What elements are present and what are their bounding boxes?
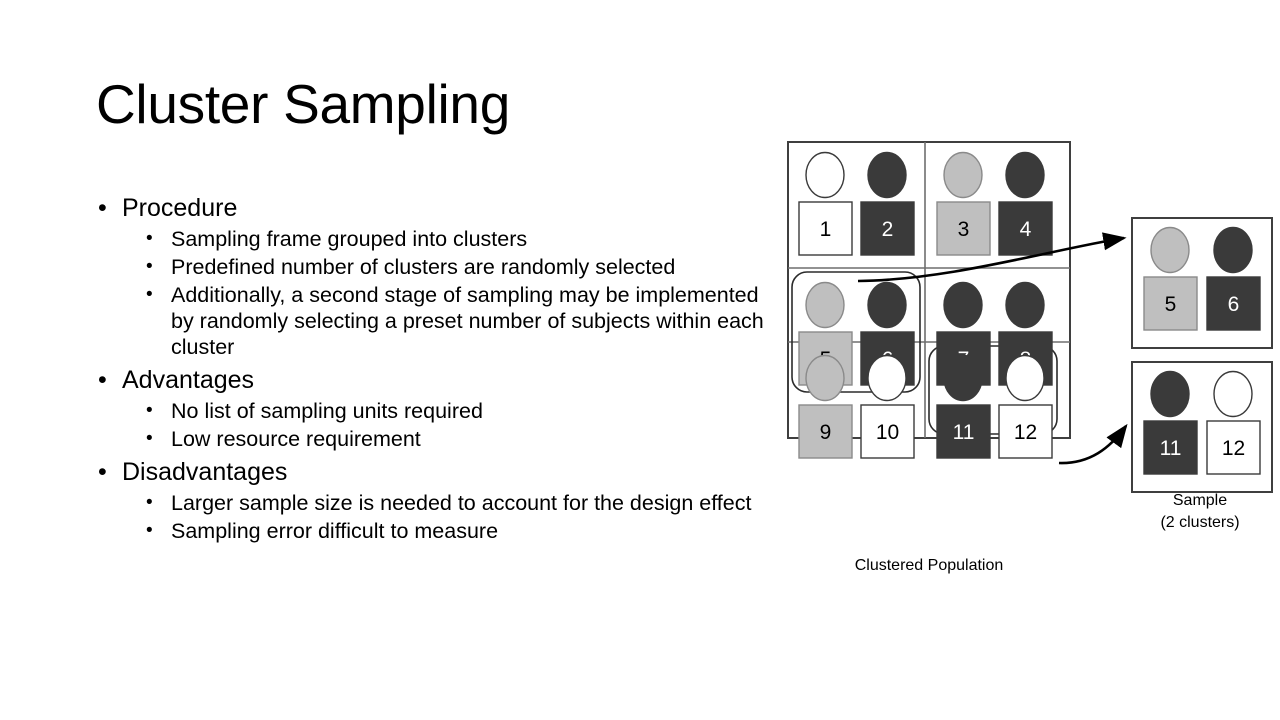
bullet-item-label: Sampling error difficult to measure: [171, 518, 764, 544]
bullet-dot-icon: •: [146, 426, 153, 452]
bullet-item-label: Low resource requirement: [171, 426, 764, 452]
sample-caption-line-2: (2 clusters): [1125, 512, 1275, 534]
person-label: 5: [1165, 293, 1177, 316]
cluster-sampling-diagram: 1 2 3 4: [780, 130, 1280, 600]
bullet-item: • Predefined number of clusters are rand…: [94, 254, 764, 280]
person-label: 1: [820, 218, 832, 241]
person-head-icon: [1151, 372, 1189, 417]
bullet-item-label: Sampling frame grouped into clusters: [171, 226, 764, 252]
sample-box-1: 5 6: [1132, 218, 1272, 348]
person-head-icon: [944, 153, 982, 198]
person-label: 12: [1222, 437, 1245, 460]
person-head-icon: [806, 283, 844, 328]
person-head-icon: [868, 283, 906, 328]
bullet-dot-icon: •: [146, 398, 153, 424]
bullet-dot-icon: •: [98, 364, 107, 396]
person-head-icon: [1006, 356, 1044, 401]
bullet-dot-icon: •: [146, 226, 153, 252]
person-label: 10: [876, 421, 899, 444]
bullet-dot-icon: •: [146, 518, 153, 544]
bullet-item: • No list of sampling units required: [94, 398, 764, 424]
bullet-dot-icon: •: [98, 192, 107, 224]
bullet-group-disadvantages: • Disadvantages • Larger sample size is …: [94, 456, 764, 544]
bullet-group-procedure: • Procedure • Sampling frame grouped int…: [94, 192, 764, 360]
person-label: 6: [1228, 293, 1240, 316]
bullet-item: • Sampling error difficult to measure: [94, 518, 764, 544]
page-title: Cluster Sampling: [96, 72, 510, 136]
bullet-item: • Larger sample size is needed to accoun…: [94, 490, 764, 516]
bullet-dot-icon: •: [146, 490, 153, 516]
person-head-icon: [1214, 372, 1252, 417]
bullet-heading-label: Procedure: [122, 194, 237, 222]
person-head-icon: [944, 356, 982, 401]
person-label: 11: [953, 421, 975, 444]
person-label: 3: [958, 218, 970, 241]
bullet-item-label: Additionally, a second stage of sampling…: [171, 282, 764, 360]
population-caption: Clustered Population: [788, 555, 1070, 577]
bullet-dot-icon: •: [98, 456, 107, 488]
bullet-item-label: No list of sampling units required: [171, 398, 764, 424]
bullet-body: • Procedure • Sampling frame grouped int…: [94, 188, 764, 547]
person-label: 12: [1014, 421, 1037, 444]
person-head-icon: [1006, 283, 1044, 328]
person-head-icon: [868, 153, 906, 198]
person-label: 9: [820, 421, 832, 444]
bullet-item: • Sampling frame grouped into clusters: [94, 226, 764, 252]
person-label: 11: [1160, 437, 1182, 460]
bullet-heading-label: Advantages: [122, 366, 254, 394]
bullet-item: • Additionally, a second stage of sampli…: [94, 282, 764, 360]
person-head-icon: [944, 283, 982, 328]
sample-caption-line-1: Sample: [1125, 490, 1275, 512]
person-head-icon: [806, 356, 844, 401]
person-head-icon: [1151, 228, 1189, 273]
bullet-item-label: Larger sample size is needed to account …: [171, 490, 764, 516]
person-label: 2: [882, 218, 894, 241]
bullet-item: • Low resource requirement: [94, 426, 764, 452]
person-head-icon: [1006, 153, 1044, 198]
bullet-heading-disadvantages: • Disadvantages: [94, 456, 764, 488]
sample-box-2: 11 12: [1132, 362, 1272, 492]
person-head-icon: [1214, 228, 1252, 273]
bullet-heading-advantages: • Advantages: [94, 364, 764, 396]
bullet-dot-icon: •: [146, 282, 153, 308]
bullet-group-advantages: • Advantages • No list of sampling units…: [94, 364, 764, 452]
bullet-heading-procedure: • Procedure: [94, 192, 764, 224]
person-label: 4: [1020, 218, 1032, 241]
bullet-item-label: Predefined number of clusters are random…: [171, 254, 764, 280]
person-head-icon: [868, 356, 906, 401]
person-head-icon: [806, 153, 844, 198]
bullet-heading-label: Disadvantages: [122, 458, 287, 486]
sample-caption: Sample (2 clusters): [1125, 490, 1275, 534]
bullet-dot-icon: •: [146, 254, 153, 280]
